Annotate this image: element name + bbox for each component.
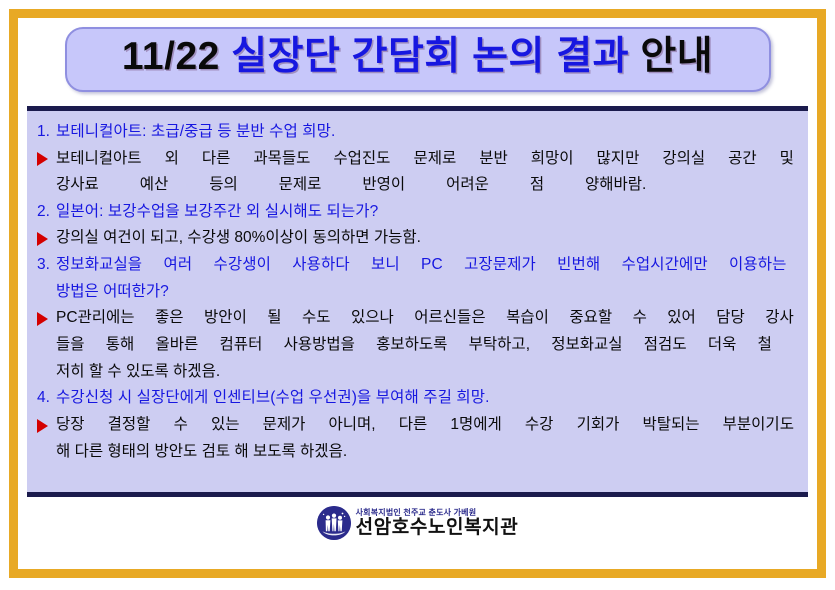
list-item: 강의실 여건이 되고, 수강생 80%이상이 동의하면 가능함. [37, 225, 794, 252]
title-suffix: 안내 [640, 35, 713, 78]
item-question: 정보화교실을 여러 수강생이 사용하다 보니 PC 고장문제가 빈번해 수업시간… [56, 252, 787, 279]
list-item-continuation: 강사료 예산 등의 문제로 반영이 어려운 점 양해바람. [37, 172, 794, 199]
organization-name: 선암호수노인복지관 [356, 518, 519, 537]
list-item-continuation: 해 다른 형태의 방안도 검토 해 보도록 하겠음. [37, 439, 794, 466]
gold-border-frame: 11/22 실장단 간담회 논의 결과 안내 1. 보테니컬아트: 초급/중급 … [9, 9, 826, 578]
item-question: 일본어: 보강수업을 보강주간 외 실시해도 되는가? [56, 199, 378, 226]
list-item-continuation: 방법은 어떠한가? [37, 279, 794, 306]
page-title: 11/22 실장단 간담회 논의 결과 안내 [93, 35, 743, 80]
item-answer-line: 강의실 여건이 되고, 수강생 80%이상이 동의하면 가능함. [56, 225, 421, 252]
item-answer-line: 보테니컬아트 외 다른 과목들도 수업진도 문제로 분반 희망이 많지만 강의실… [56, 146, 794, 173]
title-date: 11/22 [122, 35, 220, 78]
item-number: 4. [37, 385, 56, 412]
title-box: 11/22 실장단 간담회 논의 결과 안내 [65, 27, 771, 92]
triangle-bullet-icon [37, 412, 56, 438]
list-item: 보테니컬아트 외 다른 과목들도 수업진도 문제로 분반 희망이 많지만 강의실… [37, 146, 794, 173]
welfare-center-emblem-icon [317, 506, 351, 540]
slide-root: 11/22 실장단 간담회 논의 결과 안내 1. 보테니컬아트: 초급/중급 … [0, 0, 835, 590]
list-item: 1. 보테니컬아트: 초급/중급 등 분반 수업 희망. [37, 119, 794, 146]
list-item-continuation: 저히 할 수 있도록 하겠음. [37, 359, 794, 386]
footer: 사회복지법인 천주교 춘도사 가베원 선암호수노인복지관 [26, 506, 809, 540]
triangle-bullet-icon [37, 146, 56, 172]
triangle-bullet-icon [37, 305, 56, 331]
item-answer-line: 당장 결정할 수 있는 문제가 아니며, 다른 1명에게 수강 기회가 박탈되는… [56, 412, 794, 439]
frame-inner: 11/22 실장단 간담회 논의 결과 안내 1. 보테니컬아트: 초급/중급 … [18, 18, 817, 569]
item-question: 수강신청 시 실장단에게 인센티브(수업 우선권)을 부여해 주길 희망. [56, 385, 490, 412]
title-wrap: 11/22 실장단 간담회 논의 결과 안내 [26, 27, 809, 92]
item-number: 2. [37, 199, 56, 226]
organization-logo: 사회복지법인 천주교 춘도사 가베원 선암호수노인복지관 [317, 506, 519, 540]
item-number: 3. [37, 252, 56, 279]
item-answer-line: PC관리에는 좋은 방안이 될 수도 있으나 어르신들은 복습이 중요할 수 있… [56, 305, 794, 332]
list-item: PC관리에는 좋은 방안이 될 수도 있으나 어르신들은 복습이 중요할 수 있… [37, 305, 794, 332]
item-answer-line: 해 다른 형태의 방안도 검토 해 보도록 하겠음. [56, 439, 347, 466]
item-answer-line: 저히 할 수 있도록 하겠음. [56, 359, 220, 386]
title-main: 실장단 간담회 논의 결과 [231, 35, 629, 78]
item-number: 1. [37, 119, 56, 146]
list-item: 2. 일본어: 보강수업을 보강주간 외 실시해도 되는가? [37, 199, 794, 226]
logo-tagline: 사회복지법인 천주교 춘도사 가베원 [356, 509, 519, 517]
triangle-bullet-icon [37, 225, 56, 251]
item-question-line: 방법은 어떠한가? [56, 279, 169, 306]
logo-text-column: 사회복지법인 천주교 춘도사 가베원 선암호수노인복지관 [356, 509, 519, 537]
item-answer-line: 강사료 예산 등의 문제로 반영이 어려운 점 양해바람. [56, 172, 646, 199]
item-question: 보테니컬아트: 초급/중급 등 분반 수업 희망. [56, 119, 335, 146]
content-panel: 1. 보테니컬아트: 초급/중급 등 분반 수업 희망. 보테니컬아트 외 다른… [27, 106, 808, 497]
list-item: 3. 정보화교실을 여러 수강생이 사용하다 보니 PC 고장문제가 빈번해 수… [37, 252, 794, 279]
list-item-continuation: 들을 통해 올바른 컴퓨터 사용방법을 홍보하도록 부탁하고, 정보화교실 점검… [37, 332, 794, 359]
list-item: 당장 결정할 수 있는 문제가 아니며, 다른 1명에게 수강 기회가 박탈되는… [37, 412, 794, 439]
list-item: 4. 수강신청 시 실장단에게 인센티브(수업 우선권)을 부여해 주길 희망. [37, 385, 794, 412]
item-answer-line: 들을 통해 올바른 컴퓨터 사용방법을 홍보하도록 부탁하고, 정보화교실 점검… [56, 332, 772, 359]
